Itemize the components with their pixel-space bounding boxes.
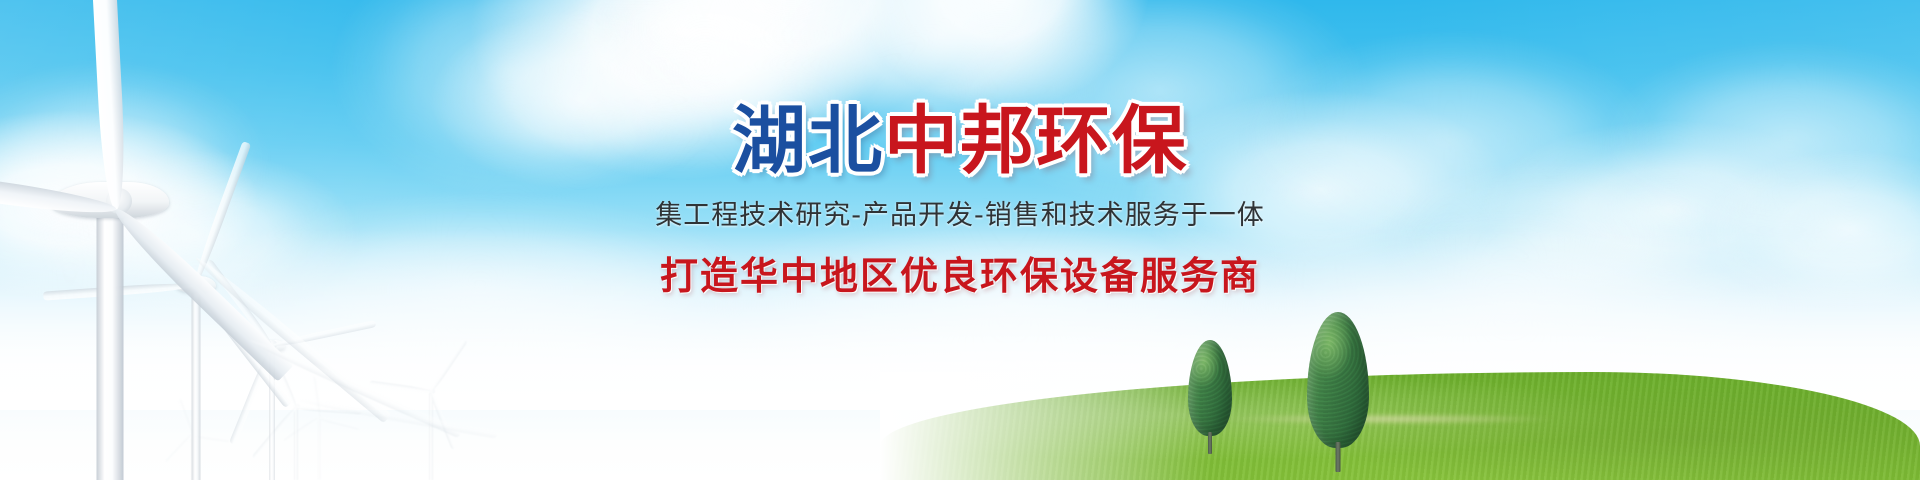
turbine-blade-lower-right [108, 201, 294, 381]
grass-path [1180, 412, 1600, 426]
wind-turbine-main [0, 0, 330, 480]
green-grass-hill [880, 372, 1920, 480]
grass-left-fade [880, 372, 1210, 480]
hero-banner: 湖北中邦环保 集工程技术研究-产品开发-销售和技术服务于一体 打造华中地区优良环… [0, 0, 1920, 480]
cypress-tree-small [1188, 340, 1232, 452]
cypress-tree-large [1307, 312, 1369, 472]
turbine-blade-up [92, 0, 128, 211]
